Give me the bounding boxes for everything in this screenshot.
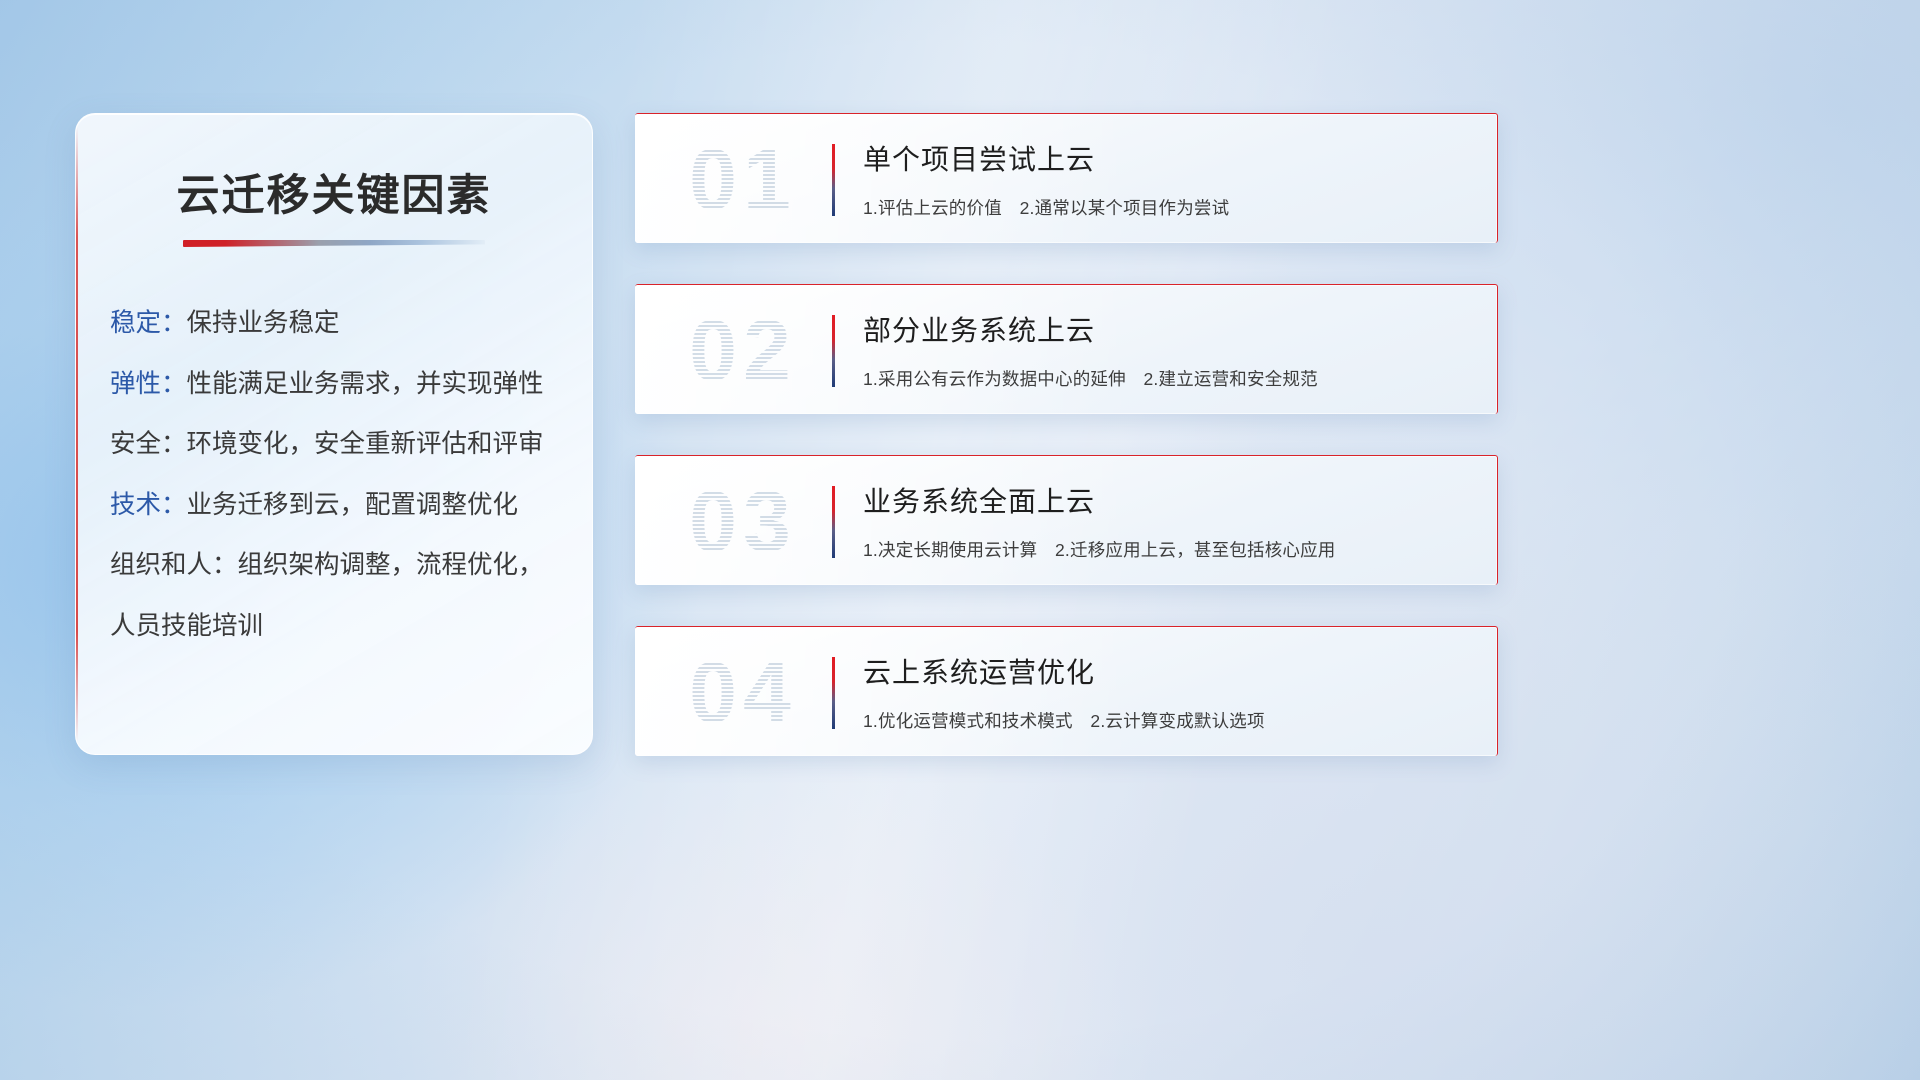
factor-item-organization-cont: 人员技能培训 [110, 614, 592, 640]
title-underline-gradient [183, 240, 485, 247]
stage-content: 云上系统运营优化 1.优化运营模式和技术模式 2.云计算变成默认选项 [863, 651, 1477, 733]
stage-accent-bar [832, 315, 835, 387]
factor-value: 组织架构调整，流程优化， [238, 551, 544, 579]
factor-value: 环境变化，安全重新评估和评审 [187, 430, 544, 458]
stage-description: 1.决定长期使用云计算 2.迁移应用上云，甚至包括核心应用 [863, 537, 1477, 562]
factor-item-elasticity: 弹性：性能满足业务需求，并实现弹性 [110, 372, 592, 398]
stage-number-watermark: 01 [663, 122, 823, 238]
stage-title: 业务系统全面上云 [863, 480, 1477, 520]
factor-item-technology: 技术：业务迁移到云，配置调整优化 [110, 493, 592, 519]
stage-accent-bar [832, 657, 835, 729]
factor-value: 业务迁移到云，配置调整优化 [187, 491, 519, 519]
stage-card-01[interactable]: 01 单个项目尝试上云 1.评估上云的价值 2.通常以某个项目作为尝试 [635, 113, 1498, 243]
factor-value: 人员技能培训 [110, 612, 263, 640]
factor-item-stability: 稳定：保持业务稳定 [110, 311, 592, 337]
factor-list: 稳定：保持业务稳定 弹性：性能满足业务需求，并实现弹性 安全：环境变化，安全重新… [110, 311, 592, 639]
stage-card-02[interactable]: 02 部分业务系统上云 1.采用公有云作为数据中心的延伸 2.建立运营和安全规范 [635, 284, 1498, 414]
factor-item-organization: 组织和人：组织架构调整，流程优化， [110, 553, 592, 579]
key-factors-panel: 云迁移关键因素 稳定：保持业务稳定 弹性：性能满足业务需求，并实现弹性 安全：环… [75, 113, 593, 755]
factor-key: 技术： [110, 491, 187, 519]
stage-description: 1.评估上云的价值 2.通常以某个项目作为尝试 [863, 195, 1477, 220]
factor-value: 保持业务稳定 [187, 309, 340, 337]
stage-content: 部分业务系统上云 1.采用公有云作为数据中心的延伸 2.建立运营和安全规范 [863, 309, 1477, 391]
factor-key: 组织和人： [110, 551, 238, 579]
factor-item-security: 安全：环境变化，安全重新评估和评审 [110, 432, 592, 458]
stage-description: 1.优化运营模式和技术模式 2.云计算变成默认选项 [863, 708, 1477, 733]
stage-description: 1.采用公有云作为数据中心的延伸 2.建立运营和安全规范 [863, 366, 1477, 391]
stage-number-watermark: 03 [663, 464, 823, 580]
stage-number-watermark: 04 [663, 635, 823, 751]
stage-title: 云上系统运营优化 [863, 651, 1477, 691]
stage-number-watermark: 02 [663, 293, 823, 409]
factor-value: 性能满足业务需求，并实现弹性 [187, 370, 544, 398]
stage-card-03[interactable]: 03 业务系统全面上云 1.决定长期使用云计算 2.迁移应用上云，甚至包括核心应… [635, 455, 1498, 585]
stage-accent-bar [832, 486, 835, 558]
stage-content: 业务系统全面上云 1.决定长期使用云计算 2.迁移应用上云，甚至包括核心应用 [863, 480, 1477, 562]
stage-accent-bar [832, 144, 835, 216]
stage-title: 部分业务系统上云 [863, 309, 1477, 349]
factor-key: 稳定： [110, 309, 187, 337]
migration-stage-list: 01 单个项目尝试上云 1.评估上云的价值 2.通常以某个项目作为尝试 02 部… [635, 113, 1498, 797]
factor-key: 安全： [110, 430, 187, 458]
page-title: 云迁移关键因素 [76, 161, 592, 223]
stage-content: 单个项目尝试上云 1.评估上云的价值 2.通常以某个项目作为尝试 [863, 138, 1477, 220]
stage-card-04[interactable]: 04 云上系统运营优化 1.优化运营模式和技术模式 2.云计算变成默认选项 [635, 626, 1498, 756]
stage-title: 单个项目尝试上云 [863, 138, 1477, 178]
factor-key: 弹性： [110, 370, 187, 398]
